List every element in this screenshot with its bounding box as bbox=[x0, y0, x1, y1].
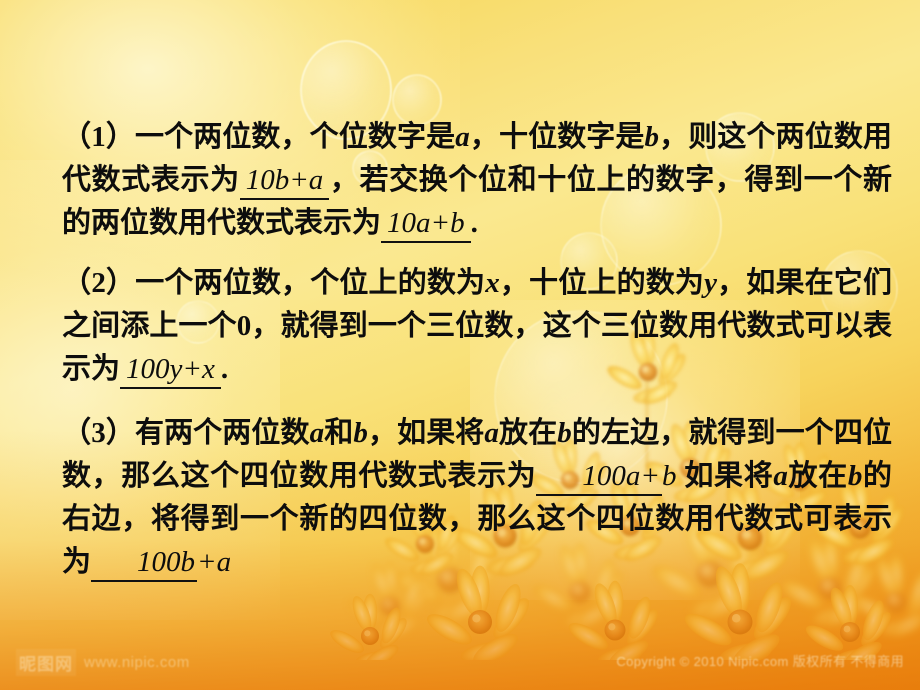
question-3-answer-1[interactable]: 100a+ bbox=[536, 459, 662, 496]
question-2-answer-1[interactable]: 100y+x bbox=[120, 352, 221, 389]
question-3-var-b2: b bbox=[557, 417, 572, 449]
question-1-number: （1） bbox=[62, 121, 135, 153]
question-3-text-4: 放在 bbox=[499, 417, 557, 449]
watermark-right: Copyright © 2010 Nipic.com 版权所有 不得商用 bbox=[616, 651, 904, 670]
question-3-var-a1: a bbox=[310, 417, 325, 449]
question-1-answer-2[interactable]: 10a+b bbox=[381, 206, 471, 243]
question-1-text-1: 一个两位数，个位数字是 bbox=[135, 121, 455, 153]
question-1: （1）一个两位数，个位数字是a，十位数字是b，则这个两位数用代数式表示为10b+… bbox=[62, 116, 892, 245]
question-2-text-4: . bbox=[221, 353, 228, 385]
watermark-left: 昵图网 www.nipic.com bbox=[16, 649, 190, 676]
question-2: （2）一个两位数，个位上的数为x，十位上的数为y，如果在它们之间添上一个0，就得… bbox=[62, 262, 892, 391]
question-1-text-2: ，十位数字是 bbox=[470, 121, 645, 153]
question-1-answer-1[interactable]: 10b+a bbox=[240, 163, 330, 200]
question-1-var-a: a bbox=[455, 121, 470, 153]
question-1-text-5: . bbox=[471, 207, 478, 239]
question-3-text-7: 放在 bbox=[788, 460, 848, 492]
question-3-var-a3: a bbox=[773, 460, 788, 492]
question-2-text-1: 一个两位数，个位上的数为 bbox=[135, 267, 485, 299]
question-2-var-x: x bbox=[485, 267, 500, 299]
question-3-answer-1-tail: b bbox=[662, 460, 677, 492]
watermark-logo: 昵图网 bbox=[16, 649, 76, 676]
question-2-var-y: y bbox=[704, 267, 717, 299]
question-3: （3）有两个两位数a和b，如果将a放在b的左边，就得到一个四位数，那么这个四位数… bbox=[62, 412, 892, 584]
question-3-var-b1: b bbox=[353, 417, 368, 449]
question-2-text-2: ，十位上的数为 bbox=[500, 267, 704, 299]
watermark-url: www.nipic.com bbox=[84, 654, 190, 671]
question-3-answer-2-tail: +a bbox=[197, 546, 231, 578]
question-3-text-1: 有两个两位数 bbox=[135, 417, 310, 449]
slide-canvas: （1）一个两位数，个位数字是a，十位数字是b，则这个两位数用代数式表示为10b+… bbox=[0, 0, 920, 690]
question-3-var-a2: a bbox=[484, 417, 499, 449]
question-3-answer-2[interactable]: 100b bbox=[91, 545, 197, 582]
question-3-number: （3） bbox=[62, 417, 135, 449]
question-3-text-6: 如果将 bbox=[684, 460, 773, 492]
question-3-var-b3: b bbox=[848, 460, 863, 492]
question-3-text-3: ，如果将 bbox=[368, 417, 485, 449]
question-3-text-2: 和 bbox=[324, 417, 353, 449]
question-2-number: （2） bbox=[62, 267, 135, 299]
question-1-var-b: b bbox=[645, 121, 660, 153]
slide-content: （1）一个两位数，个位数字是a，十位数字是b，则这个两位数用代数式表示为10b+… bbox=[0, 0, 920, 690]
